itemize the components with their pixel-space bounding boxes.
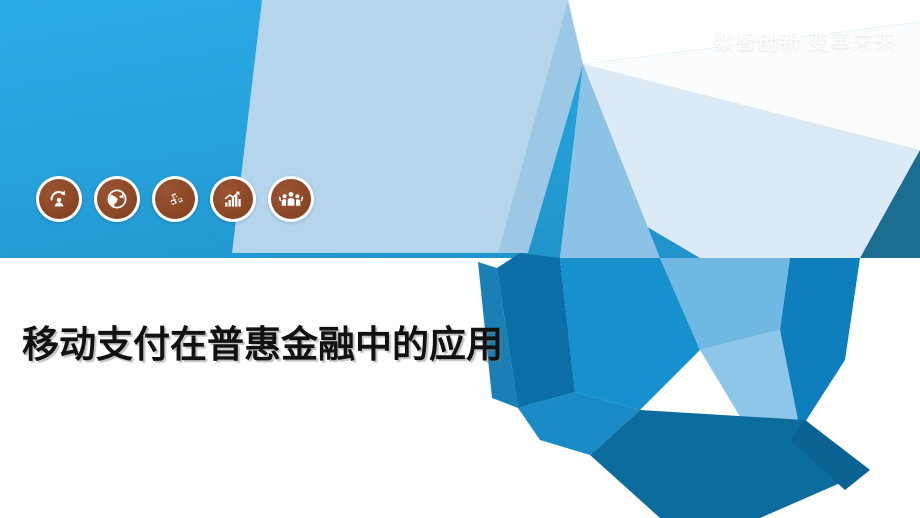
people-group-icon <box>271 179 311 219</box>
icon-chip-globe[interactable] <box>94 176 140 222</box>
title-slide: 数智创新 变革未来 <box>0 0 920 518</box>
icon-chip-refresh-person[interactable] <box>36 176 82 222</box>
tagline-text: 数智创新 变革未来 <box>713 26 896 56</box>
page-title: 移动支付在普惠金融中的应用 <box>22 321 522 368</box>
gears-icon <box>155 179 195 219</box>
icon-strip <box>36 176 314 222</box>
bar-chart-growth-icon <box>213 179 253 219</box>
polygon-artwork <box>0 0 920 518</box>
globe-icon <box>97 179 137 219</box>
icon-chip-gears[interactable] <box>152 176 198 222</box>
icon-chip-people-group[interactable] <box>268 176 314 222</box>
refresh-person-icon <box>39 179 79 219</box>
icon-chip-bar-chart-growth[interactable] <box>210 176 256 222</box>
